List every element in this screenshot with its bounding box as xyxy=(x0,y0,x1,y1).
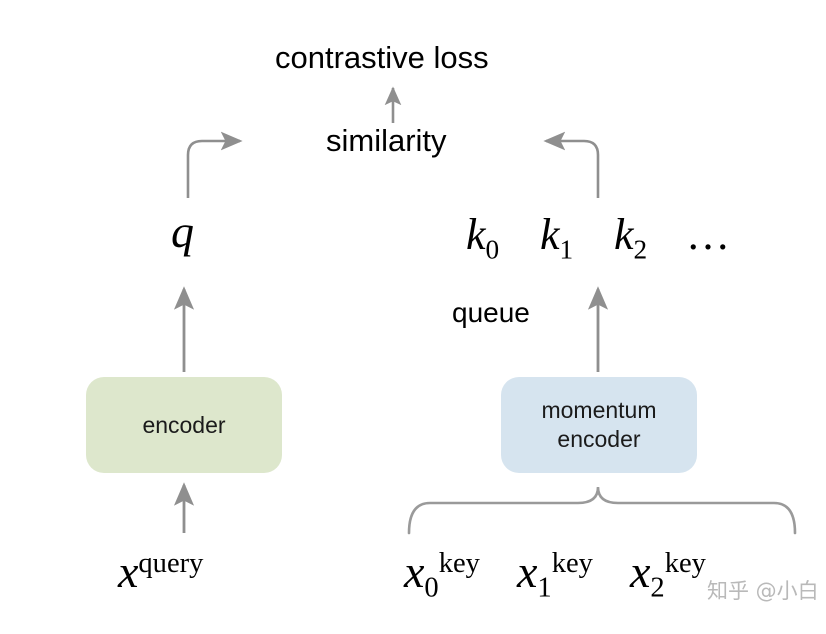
momentum-encoder-box-label: momentum encoder xyxy=(541,396,656,454)
x-key-2-symbol: x2key xyxy=(630,545,706,598)
k2-base: k xyxy=(614,210,634,259)
momentum-encoder-box[interactable]: momentum encoder xyxy=(501,377,697,473)
encoder-box-label: encoder xyxy=(142,411,225,440)
ellipsis-glyph: … xyxy=(686,210,730,259)
keys-ellipsis: … xyxy=(686,209,730,260)
x-key-1-base: x xyxy=(517,546,537,597)
k0-base: k xyxy=(466,210,486,259)
k2-subscript: 2 xyxy=(634,234,648,264)
x-query-symbol: xquery xyxy=(118,545,203,598)
x-key-1-subscript: 1 xyxy=(537,573,551,604)
x-key-1-superscript: key xyxy=(552,548,593,579)
key-0-symbol: k0 xyxy=(466,209,499,260)
momentum-encoder-line-1: momentum xyxy=(541,397,656,423)
x-key-2-superscript: key xyxy=(665,548,706,579)
x-key-2-base: x xyxy=(630,546,650,597)
query-vector-symbol: q xyxy=(171,205,194,258)
x-key-2-subscript: 2 xyxy=(650,573,664,604)
contrastive-loss-label: contrastive loss xyxy=(275,40,489,76)
moco-diagram: contrastive loss similarity queue q k0 k… xyxy=(0,0,826,634)
momentum-encoder-line-2: encoder xyxy=(557,426,640,452)
x-key-0-base: x xyxy=(404,546,424,597)
x-key-0-symbol: x0key xyxy=(404,545,480,598)
queue-label: queue xyxy=(452,297,530,329)
q-glyph: q xyxy=(171,206,194,257)
key-2-symbol: k2 xyxy=(614,209,647,260)
x-key-0-superscript: key xyxy=(439,548,480,579)
connector-layer xyxy=(0,0,826,634)
x-query-base: x xyxy=(118,546,138,597)
brace-key-inputs xyxy=(409,487,795,533)
x-key-0-subscript: 0 xyxy=(424,573,438,604)
arrow-q-to-similarity xyxy=(188,141,240,198)
key-1-symbol: k1 xyxy=(540,209,573,260)
zhihu-watermark: 知乎 @小白 xyxy=(707,575,819,605)
arrow-keys-to-similarity xyxy=(546,141,598,198)
encoder-box[interactable]: encoder xyxy=(86,377,282,473)
k1-subscript: 1 xyxy=(560,234,574,264)
x-key-1-symbol: x1key xyxy=(517,545,593,598)
k0-subscript: 0 xyxy=(486,234,500,264)
similarity-label: similarity xyxy=(326,123,447,159)
x-query-superscript: query xyxy=(138,548,203,579)
k1-base: k xyxy=(540,210,560,259)
